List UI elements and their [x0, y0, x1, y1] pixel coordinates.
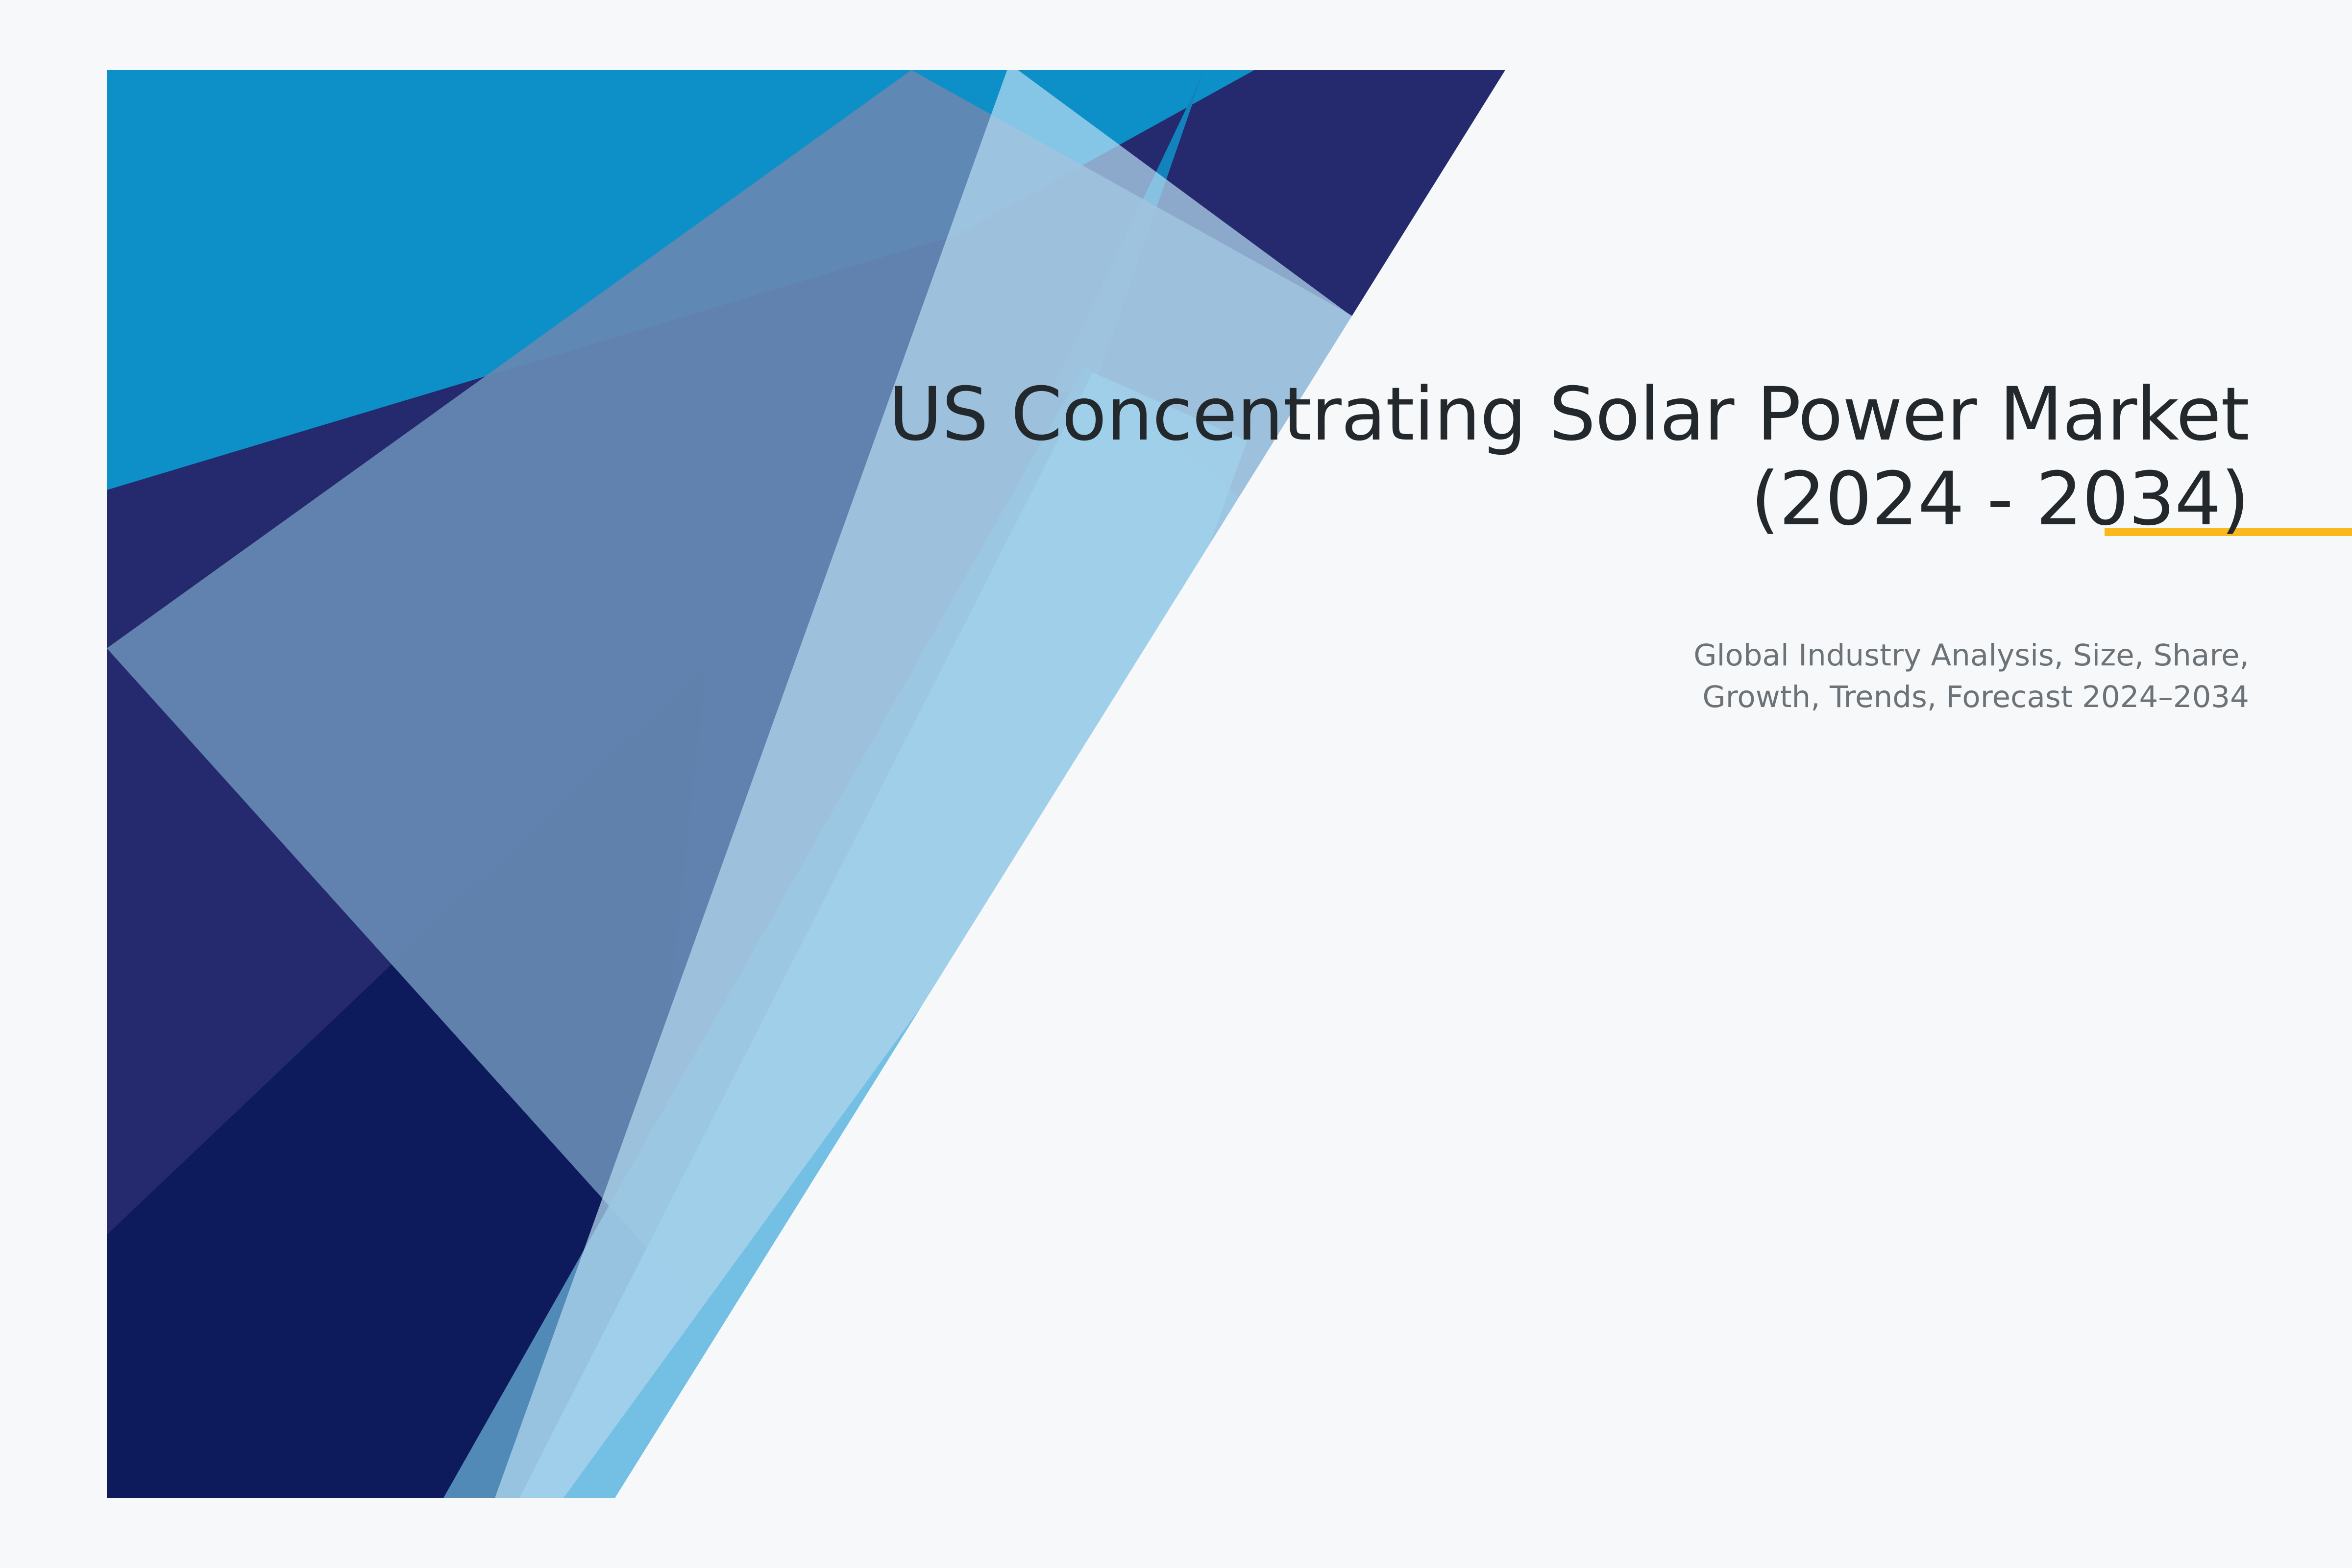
- mask-top-gutter: [0, 0, 2352, 70]
- report-cover: US Concentrating Solar Power Market (202…: [0, 0, 2352, 1568]
- cover-subtitle: Global Industry Analysis, Size, Share, G…: [789, 635, 2249, 718]
- cover-text-block: US Concentrating Solar Power Market (202…: [789, 372, 2249, 718]
- title-line-1: US Concentrating Solar Power Market: [888, 372, 2249, 457]
- page-title: US Concentrating Solar Power Market (202…: [789, 372, 2249, 541]
- title-line-2: (2024 - 2034): [1751, 457, 2249, 542]
- subtitle-line-2: Growth, Trends, Forecast 2024–2034: [1702, 680, 2249, 714]
- mask-bottom-gutter: [0, 1498, 2352, 1568]
- cover-artwork: [0, 0, 2352, 1568]
- subtitle-line-1: Global Industry Analysis, Size, Share,: [1693, 638, 2249, 673]
- mask-left-gutter: [0, 0, 107, 1568]
